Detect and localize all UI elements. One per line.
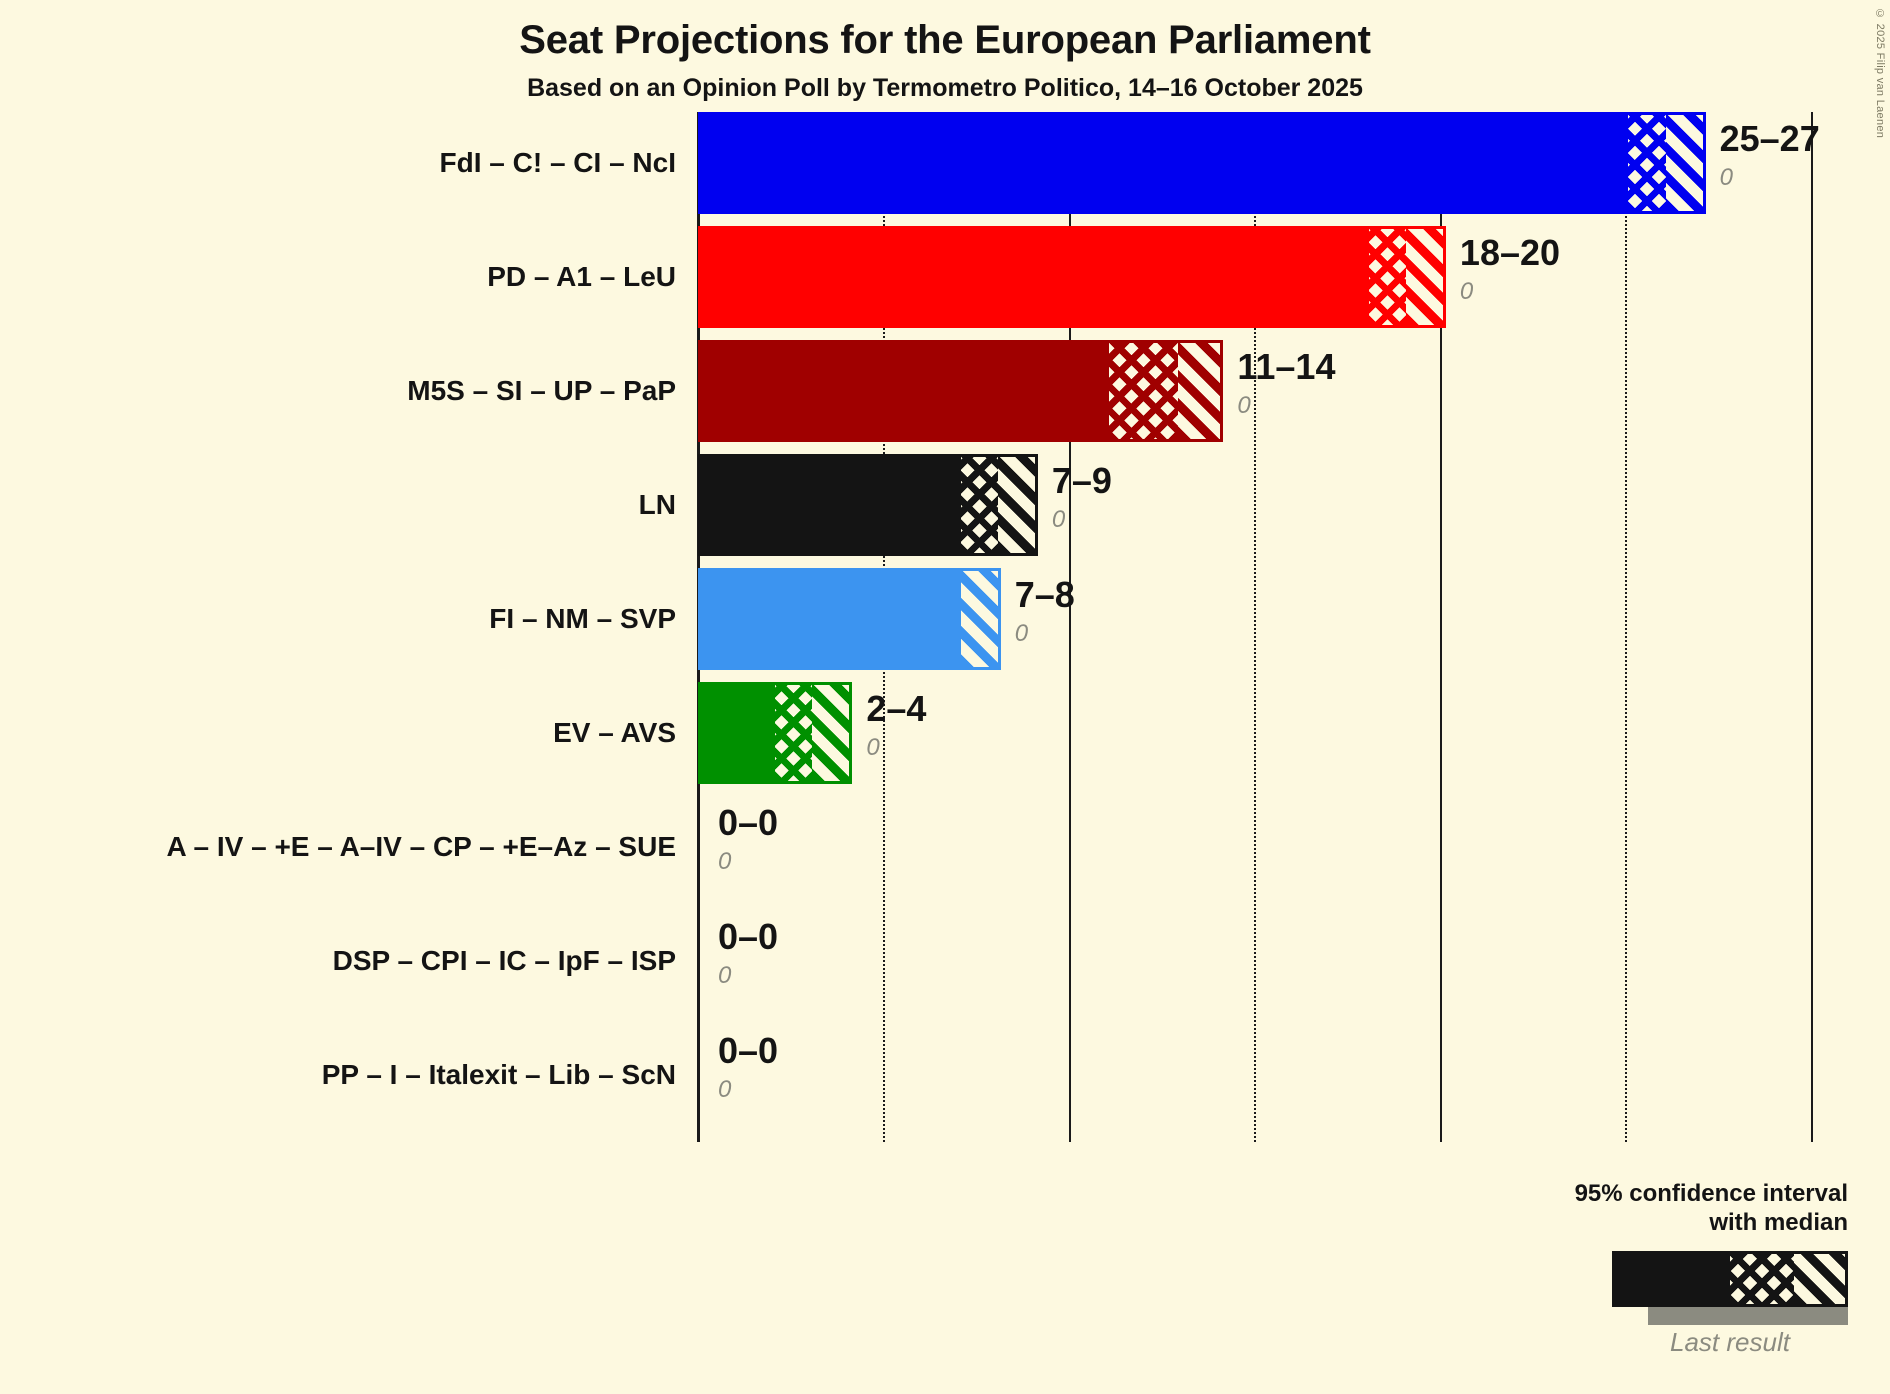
page-subtitle: Based on an Opinion Poll by Termometro P…	[0, 74, 1890, 103]
bar-category-label: PD – A1 – LeU	[487, 226, 676, 328]
diagonal-hatch-segment	[1666, 115, 1703, 211]
crosshatch-segment	[1628, 115, 1665, 211]
legend-median-segment	[1615, 1254, 1730, 1304]
seat-range-value: 0–0	[718, 1030, 778, 1072]
median-segment	[701, 685, 775, 781]
seat-range-value: 11–14	[1237, 346, 1335, 388]
page-title: Seat Projections for the European Parlia…	[0, 18, 1890, 63]
bar-category-label: EV – AVS	[553, 682, 676, 784]
last-result-value: 0	[718, 1076, 731, 1104]
confidence-interval-bar[interactable]	[698, 568, 1001, 670]
crosshatch-segment	[1109, 343, 1178, 439]
median-segment	[701, 571, 961, 667]
bar-row: EV – AVS2–40	[698, 682, 1888, 784]
seat-range-value: 25–27	[1720, 118, 1820, 160]
bar-row: PD – A1 – LeU18–200	[698, 226, 1888, 328]
seat-range-value: 18–20	[1460, 232, 1560, 274]
legend-diagonal-segment	[1794, 1254, 1845, 1304]
seat-range-value: 7–9	[1052, 460, 1112, 502]
legend-line-1: 95% confidence interval	[1288, 1180, 1848, 1208]
bar-row: A – IV – +E – A–IV – CP – +E–Az – SUE0–0…	[698, 796, 1888, 898]
bar-category-label: PP – I – Italexit – Lib – ScN	[322, 1024, 676, 1126]
confidence-interval-bar[interactable]	[698, 340, 1223, 442]
legend-last-result-bar	[1648, 1307, 1848, 1325]
crosshatch-segment	[1369, 229, 1406, 325]
chart-legend: 95% confidence interval with median Last…	[1288, 1180, 1848, 1358]
confidence-interval-bar[interactable]	[698, 682, 852, 784]
bar-category-label: M5S – SI – UP – PaP	[407, 340, 676, 442]
crosshatch-segment	[775, 685, 812, 781]
diagonal-hatch-segment	[1406, 229, 1443, 325]
last-result-value: 0	[1015, 620, 1028, 648]
last-result-value: 0	[718, 962, 731, 990]
bar-category-label: FdI – C! – CI – NcI	[440, 112, 677, 214]
seat-range-value: 0–0	[718, 802, 778, 844]
bar-category-label: DSP – CPI – IC – IpF – ISP	[333, 910, 676, 1012]
last-result-value: 0	[1052, 506, 1065, 534]
legend-last-result-label: Last result	[1612, 1327, 1848, 1358]
median-segment	[701, 457, 961, 553]
diagonal-hatch-segment	[961, 571, 998, 667]
bar-row: M5S – SI – UP – PaP11–140	[698, 340, 1888, 442]
bar-row: FdI – C! – CI – NcI25–270	[698, 112, 1888, 214]
median-segment	[701, 115, 1628, 211]
last-result-value: 0	[1720, 164, 1733, 192]
median-segment	[701, 229, 1369, 325]
last-result-value: 0	[718, 848, 731, 876]
bar-category-label: A – IV – +E – A–IV – CP – +E–Az – SUE	[167, 796, 676, 898]
plot-area: FdI – C! – CI – NcI25–270PD – A1 – LeU18…	[698, 112, 1848, 1142]
median-segment	[701, 343, 1109, 439]
seat-range-value: 0–0	[718, 916, 778, 958]
legend-crosshatch-segment	[1730, 1254, 1794, 1304]
legend-sample-bar	[1612, 1251, 1848, 1307]
bar-row: DSP – CPI – IC – IpF – ISP0–00	[698, 910, 1888, 1012]
confidence-interval-bar[interactable]	[698, 226, 1446, 328]
last-result-value: 0	[1237, 392, 1250, 420]
legend-line-2: with median	[1288, 1209, 1848, 1237]
bar-row: LN7–90	[698, 454, 1888, 556]
diagonal-hatch-segment	[812, 685, 849, 781]
chart-canvas: Seat Projections for the European Parlia…	[0, 0, 1890, 1394]
confidence-interval-bar[interactable]	[698, 112, 1706, 214]
crosshatch-segment	[961, 457, 998, 553]
diagonal-hatch-segment	[998, 457, 1035, 553]
confidence-interval-bar[interactable]	[698, 454, 1038, 556]
diagonal-hatch-segment	[1178, 343, 1220, 439]
bar-row: PP – I – Italexit – Lib – ScN0–00	[698, 1024, 1888, 1126]
bar-category-label: FI – NM – SVP	[489, 568, 676, 670]
last-result-value: 0	[1460, 278, 1473, 306]
last-result-value: 0	[866, 734, 879, 762]
bar-category-label: LN	[639, 454, 676, 556]
seat-range-value: 7–8	[1015, 574, 1075, 616]
bar-row: FI – NM – SVP7–80	[698, 568, 1888, 670]
seat-range-value: 2–4	[866, 688, 926, 730]
